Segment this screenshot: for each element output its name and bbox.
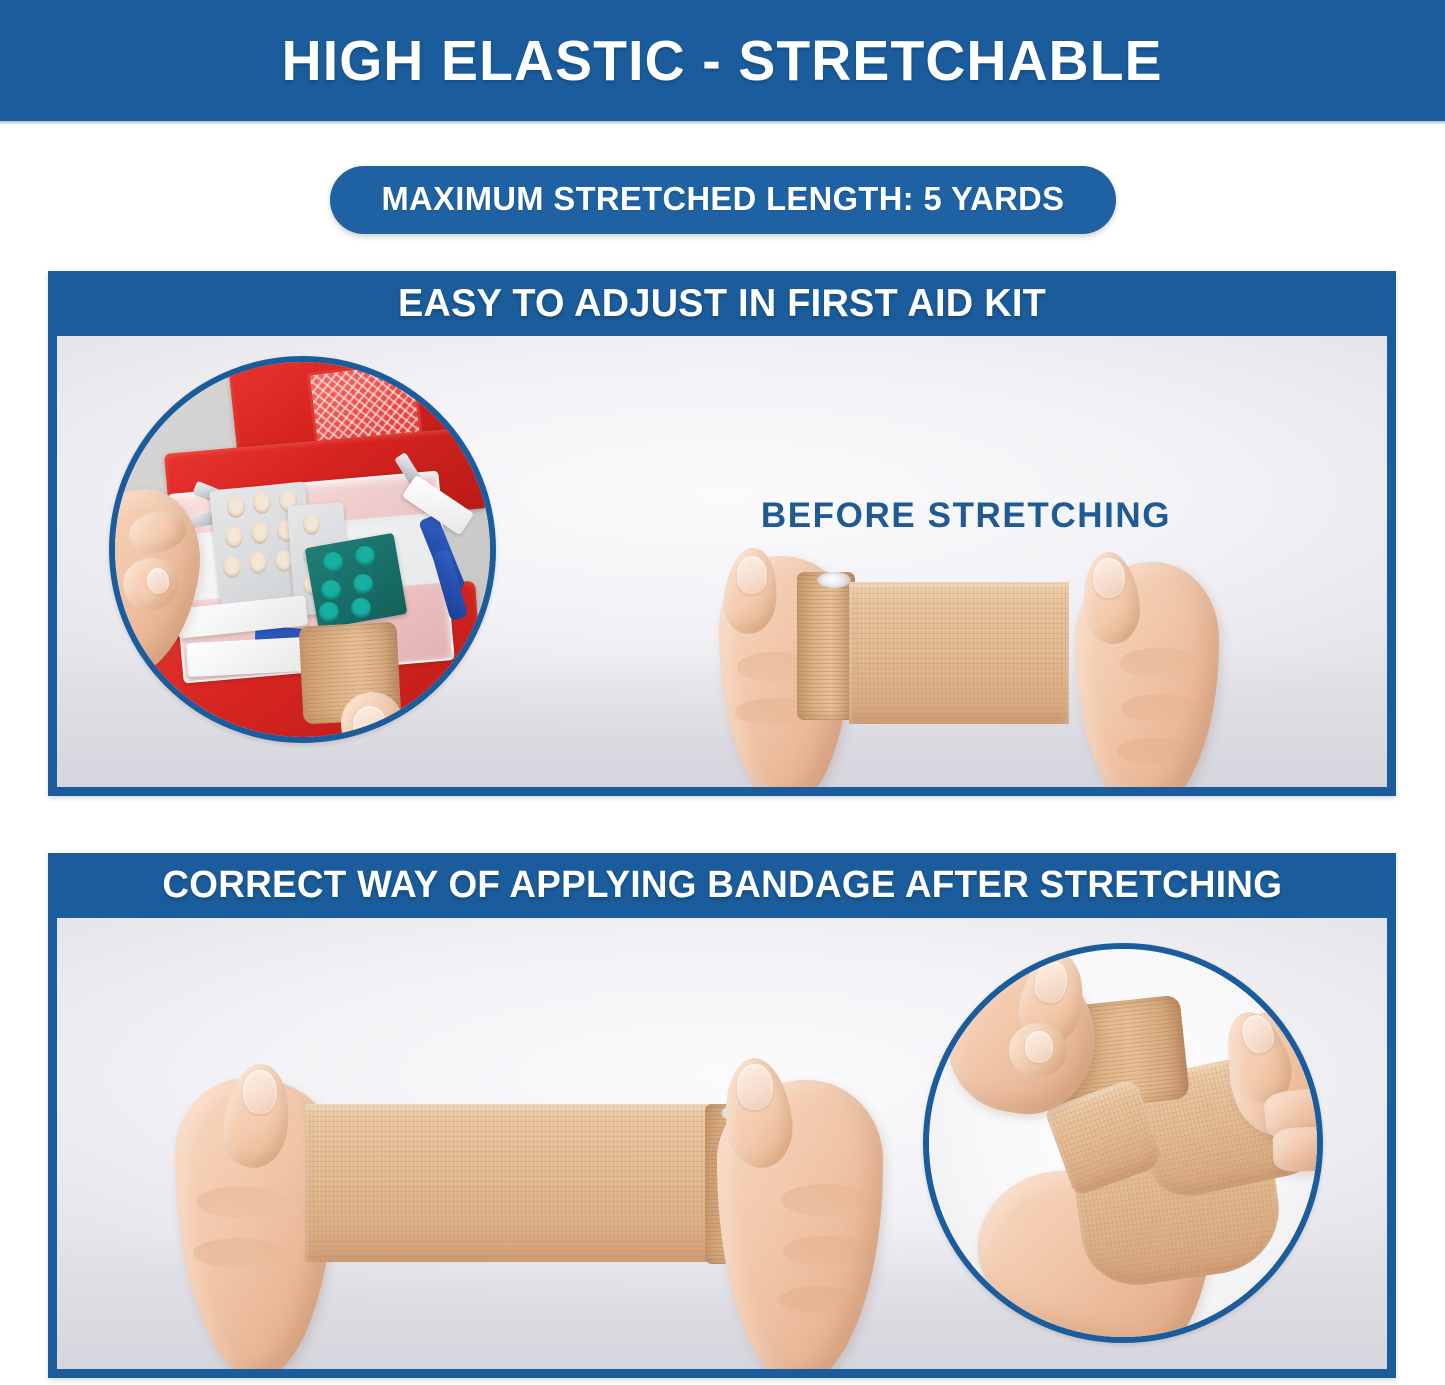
- top-banner: HIGH ELASTIC - STRETCHABLE: [0, 0, 1445, 121]
- page-title: HIGH ELASTIC - STRETCHABLE: [282, 28, 1163, 94]
- panel-2-header: CORRECT WAY OF APPLYING BANDAGE AFTER ST…: [48, 853, 1396, 918]
- wrist-wrapping-circle-inset: [923, 943, 1323, 1343]
- badge-container: MAXIMUM STRETCHED LENGTH: 5 YARDS: [0, 166, 1445, 234]
- panel-2-header-title: CORRECT WAY OF APPLYING BANDAGE AFTER ST…: [162, 864, 1282, 907]
- wrist-wrapping-photo: [929, 949, 1317, 1337]
- panel-1-header-title: EASY TO ADJUST IN FIRST AID KIT: [398, 282, 1046, 326]
- panel-first-aid-kit: EASY TO ADJUST IN FIRST AID KIT: [48, 271, 1396, 796]
- hands-holding-bandage-photo-1: [57, 336, 1387, 787]
- panel-2-body: [57, 918, 1387, 1369]
- banner-underline: [0, 121, 1445, 125]
- panel-1-header: EASY TO ADJUST IN FIRST AID KIT: [48, 271, 1396, 336]
- panel-1-body: BEFORE STRETCHING: [57, 336, 1387, 787]
- panel-correct-way-applying: CORRECT WAY OF APPLYING BANDAGE AFTER ST…: [48, 853, 1396, 1378]
- max-stretched-length-badge: MAXIMUM STRETCHED LENGTH: 5 YARDS: [330, 166, 1116, 234]
